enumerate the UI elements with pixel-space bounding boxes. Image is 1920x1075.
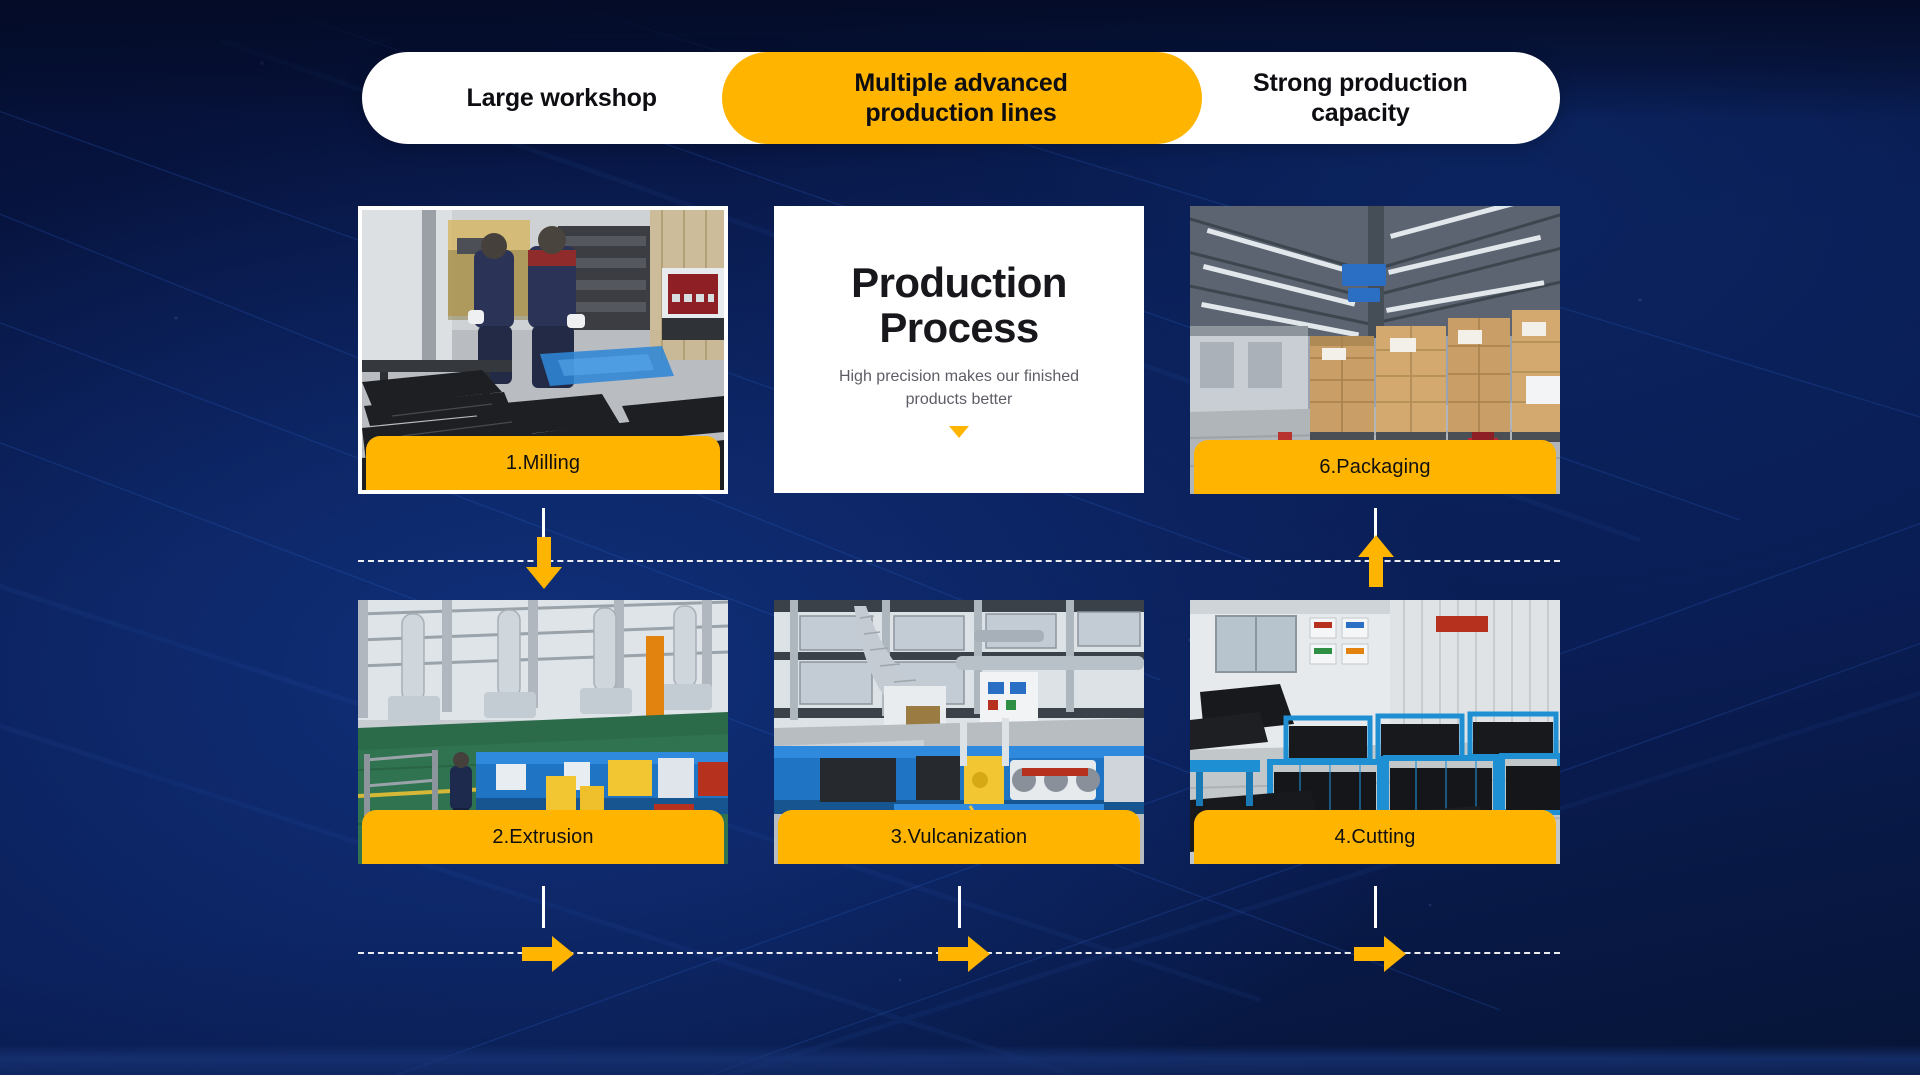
- arrow-right-icon: [938, 936, 990, 972]
- feature-pill-bar: Large workshop Multiple advancedproducti…: [362, 52, 1560, 144]
- step-label-vulcanization: 3.Vulcanization: [778, 810, 1140, 864]
- step-card-milling[interactable]: 1.Milling: [358, 206, 728, 494]
- feature-label: Large workshop: [467, 83, 657, 114]
- page-subtitle: High precision makes our finished produc…: [824, 366, 1094, 411]
- page-title: ProductionProcess: [851, 261, 1067, 350]
- feature-large-workshop[interactable]: Large workshop: [362, 52, 761, 144]
- step-label-extrusion: 2.Extrusion: [362, 810, 724, 864]
- feature-strong-production-capacity[interactable]: Strong productioncapacity: [1161, 52, 1560, 144]
- arrow-down-icon: [526, 537, 562, 589]
- step-label-milling: 1.Milling: [366, 436, 720, 490]
- step-card-packaging[interactable]: 6.Packaging: [1190, 206, 1560, 494]
- connector-stub-cutting: [1374, 886, 1377, 928]
- step-card-vulcanization[interactable]: 3.Vulcanization: [774, 600, 1144, 864]
- connector-stub-extrusion: [542, 886, 545, 928]
- arrow-right-icon: [1354, 936, 1406, 972]
- chevron-down-icon: [949, 426, 969, 438]
- feature-multiple-production-lines[interactable]: Multiple advancedproduction lines: [761, 52, 1160, 144]
- step-card-extrusion[interactable]: 2.Extrusion: [358, 600, 728, 864]
- feature-label: Multiple advancedproduction lines: [854, 68, 1067, 129]
- feature-label: Strong productioncapacity: [1253, 68, 1468, 129]
- production-process-card: ProductionProcess High precision makes o…: [774, 206, 1144, 493]
- arrow-up-icon: [1358, 535, 1394, 587]
- background-bottom-band: [0, 1045, 1920, 1075]
- connector-stub-vulcanization: [958, 886, 961, 928]
- step-label-cutting: 4.Cutting: [1194, 810, 1556, 864]
- arrow-right-icon: [522, 936, 574, 972]
- step-card-cutting[interactable]: 4.Cutting: [1190, 600, 1560, 864]
- step-label-packaging: 6.Packaging: [1194, 440, 1556, 494]
- production-process-infographic: Large workshop Multiple advancedproducti…: [0, 0, 1920, 1075]
